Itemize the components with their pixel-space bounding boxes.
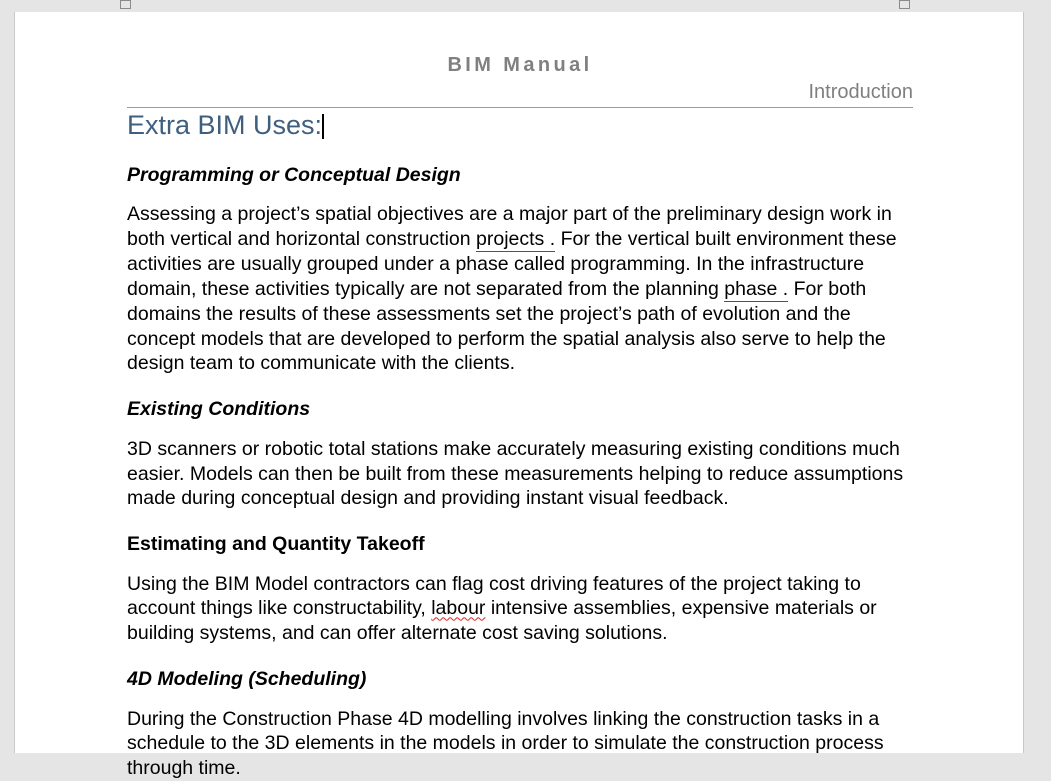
text-run: 3D scanners or robotic total stations ma… — [127, 438, 903, 510]
section-paragraph[interactable]: Assessing a project’s spatial objectives… — [127, 187, 917, 376]
text-run: During the Construction Phase 4D modelli… — [127, 708, 884, 780]
section-paragraph[interactable]: During the Construction Phase 4D modelli… — [127, 692, 917, 781]
right-indent-marker[interactable] — [899, 0, 910, 9]
running-header: BIM Manual Introduction — [127, 12, 913, 108]
section-heading: Existing Conditions — [127, 376, 917, 421]
text-caret — [322, 114, 324, 139]
header-document-title: BIM Manual — [127, 12, 913, 75]
section-list: Programming or Conceptual DesignAssessin… — [127, 142, 917, 781]
document-body[interactable]: Extra BIM Uses: Programming or Conceptua… — [127, 108, 917, 781]
tracked-change-run[interactable]: projects . — [476, 228, 555, 252]
section-paragraph[interactable]: 3D scanners or robotic total stations ma… — [127, 422, 917, 512]
left-indent-marker[interactable] — [120, 0, 131, 9]
tracked-change-run[interactable]: phase . — [724, 278, 788, 302]
page-title-text: Extra BIM Uses: — [127, 110, 322, 140]
section-paragraph[interactable]: Using the BIM Model contractors can flag… — [127, 557, 917, 647]
section-heading: Programming or Conceptual Design — [127, 142, 917, 187]
section-heading: 4D Modeling (Scheduling) — [127, 646, 917, 691]
section-heading: Estimating and Quantity Takeoff — [127, 511, 917, 556]
misspelled-word[interactable]: labour — [431, 597, 485, 619]
page-title[interactable]: Extra BIM Uses: — [127, 108, 917, 142]
header-section-label: Introduction — [127, 75, 913, 107]
ruler-strip — [0, 0, 1051, 12]
document-page[interactable]: BIM Manual Introduction Extra BIM Uses: … — [14, 12, 1024, 753]
